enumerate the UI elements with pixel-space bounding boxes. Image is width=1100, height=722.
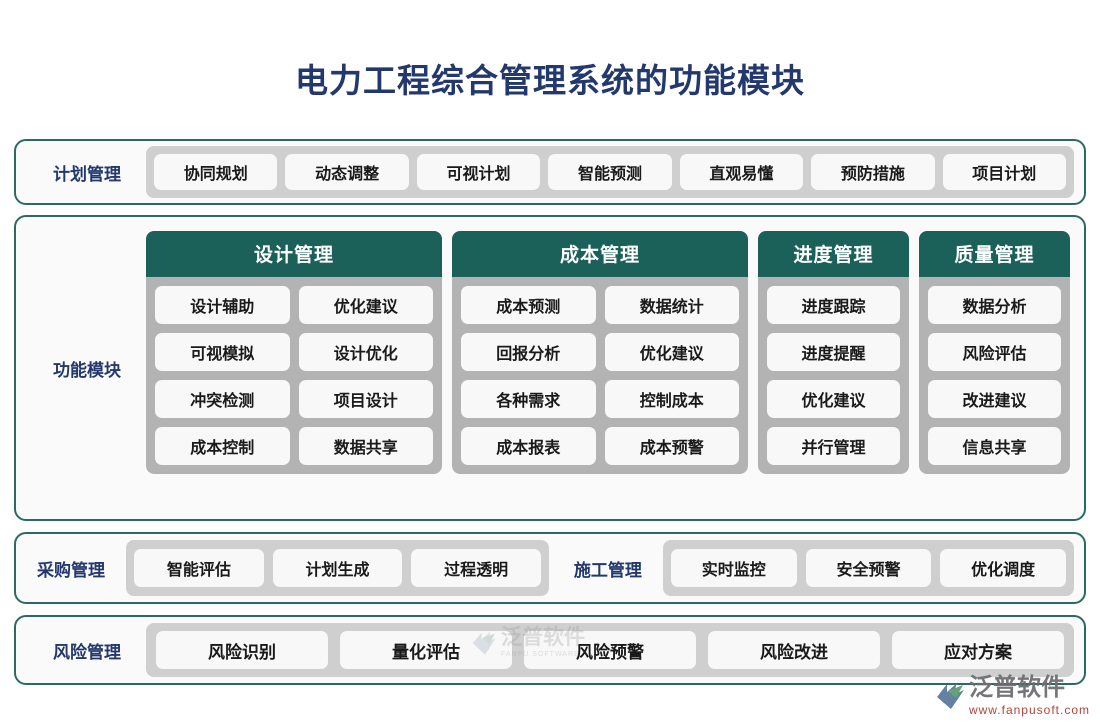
module-item[interactable]: 进度提醒 [767, 333, 900, 371]
construction-band: 实时监控 安全预警 优化调度 [663, 540, 1074, 596]
function-modules-section: 功能模块 设计管理 设计辅助 优化建议 可视模拟 设计优化 冲突检测 项目设计 … [14, 215, 1086, 521]
module-item[interactable]: 成本预警 [605, 427, 740, 465]
plan-item[interactable]: 预防措施 [811, 154, 934, 190]
risk-item[interactable]: 量化评估 [340, 631, 512, 669]
plan-management-section: 计划管理 协同规划 动态调整 可视计划 智能预测 直观易懂 预防措施 项目计划 [14, 139, 1086, 205]
module-item[interactable]: 设计辅助 [155, 286, 290, 324]
procurement-item[interactable]: 过程透明 [411, 549, 541, 587]
plan-item[interactable]: 协同规划 [154, 154, 277, 190]
risk-item[interactable]: 风险识别 [156, 631, 328, 669]
module-item[interactable]: 成本控制 [155, 427, 290, 465]
plan-management-band: 协同规划 动态调整 可视计划 智能预测 直观易懂 预防措施 项目计划 [146, 146, 1074, 198]
page-title: 电力工程综合管理系统的功能模块 [14, 22, 1086, 117]
module-item[interactable]: 信息共享 [928, 427, 1061, 465]
module-item[interactable]: 数据分析 [928, 286, 1061, 324]
module-item[interactable]: 数据共享 [299, 427, 434, 465]
construction-item[interactable]: 实时监控 [671, 549, 797, 587]
module-item[interactable]: 可视模拟 [155, 333, 290, 371]
fanpu-logo-icon [935, 681, 969, 711]
plan-item[interactable]: 智能预测 [548, 154, 671, 190]
construction-management-label: 施工管理 [553, 556, 663, 581]
module-card-title: 成本管理 [452, 231, 748, 277]
module-item[interactable]: 并行管理 [767, 427, 900, 465]
plan-item[interactable]: 可视计划 [417, 154, 540, 190]
construction-item[interactable]: 优化调度 [940, 549, 1066, 587]
module-card-quality: 质量管理 数据分析 风险评估 改进建议 信息共享 [919, 231, 1070, 474]
risk-item[interactable]: 风险改进 [708, 631, 880, 669]
module-card-cost: 成本管理 成本预测 数据统计 回报分析 优化建议 各种需求 控制成本 成本报表 … [452, 231, 748, 474]
module-card-title: 设计管理 [146, 231, 442, 277]
module-item[interactable]: 进度跟踪 [767, 286, 900, 324]
module-item[interactable]: 优化建议 [605, 333, 740, 371]
function-modules-label: 功能模块 [16, 217, 146, 519]
plan-item[interactable]: 直观易懂 [680, 154, 803, 190]
risk-item[interactable]: 应对方案 [892, 631, 1064, 669]
procurement-management-label: 采购管理 [16, 556, 126, 581]
risk-management-section: 风险管理 风险识别 量化评估 风险预警 风险改进 应对方案 [14, 615, 1086, 685]
operations-section: 采购管理 智能评估 计划生成 过程透明 施工管理 实时监控 安全预警 优化调度 [14, 532, 1086, 604]
module-item[interactable]: 设计优化 [299, 333, 434, 371]
module-item[interactable]: 成本报表 [461, 427, 596, 465]
plan-item[interactable]: 动态调整 [285, 154, 408, 190]
risk-management-band: 风险识别 量化评估 风险预警 风险改进 应对方案 [146, 623, 1074, 677]
module-item[interactable]: 各种需求 [461, 380, 596, 418]
module-card-title: 质量管理 [919, 231, 1070, 277]
procurement-item[interactable]: 计划生成 [273, 549, 403, 587]
module-item[interactable]: 成本预测 [461, 286, 596, 324]
module-card-body: 成本预测 数据统计 回报分析 优化建议 各种需求 控制成本 成本报表 成本预警 [452, 277, 748, 474]
procurement-band: 智能评估 计划生成 过程透明 [126, 540, 549, 596]
module-item[interactable]: 优化建议 [767, 380, 900, 418]
module-card-design: 设计管理 设计辅助 优化建议 可视模拟 设计优化 冲突检测 项目设计 成本控制 … [146, 231, 442, 474]
module-card-progress: 进度管理 进度跟踪 进度提醒 优化建议 并行管理 [758, 231, 909, 474]
module-card-title: 进度管理 [758, 231, 909, 277]
module-item[interactable]: 改进建议 [928, 380, 1061, 418]
construction-item[interactable]: 安全预警 [806, 549, 932, 587]
brand-site-url: www.fanpusoft.com [969, 704, 1090, 716]
module-card-body: 设计辅助 优化建议 可视模拟 设计优化 冲突检测 项目设计 成本控制 数据共享 [146, 277, 442, 474]
risk-management-label: 风险管理 [16, 638, 146, 663]
module-item[interactable]: 风险评估 [928, 333, 1061, 371]
plan-management-label: 计划管理 [16, 160, 146, 185]
procurement-item[interactable]: 智能评估 [134, 549, 264, 587]
module-item[interactable]: 优化建议 [299, 286, 434, 324]
risk-item[interactable]: 风险预警 [524, 631, 696, 669]
module-item[interactable]: 项目设计 [299, 380, 434, 418]
module-item[interactable]: 回报分析 [461, 333, 596, 371]
module-item[interactable]: 冲突检测 [155, 380, 290, 418]
plan-item[interactable]: 项目计划 [943, 154, 1066, 190]
module-item[interactable]: 数据统计 [605, 286, 740, 324]
infographic-page: 电力工程综合管理系统的功能模块 计划管理 协同规划 动态调整 可视计划 智能预测… [0, 22, 1100, 722]
module-card-body: 进度跟踪 进度提醒 优化建议 并行管理 [758, 277, 909, 474]
module-card-list: 设计管理 设计辅助 优化建议 可视模拟 设计优化 冲突检测 项目设计 成本控制 … [146, 217, 1084, 519]
module-item[interactable]: 控制成本 [605, 380, 740, 418]
module-card-body: 数据分析 风险评估 改进建议 信息共享 [919, 277, 1070, 474]
